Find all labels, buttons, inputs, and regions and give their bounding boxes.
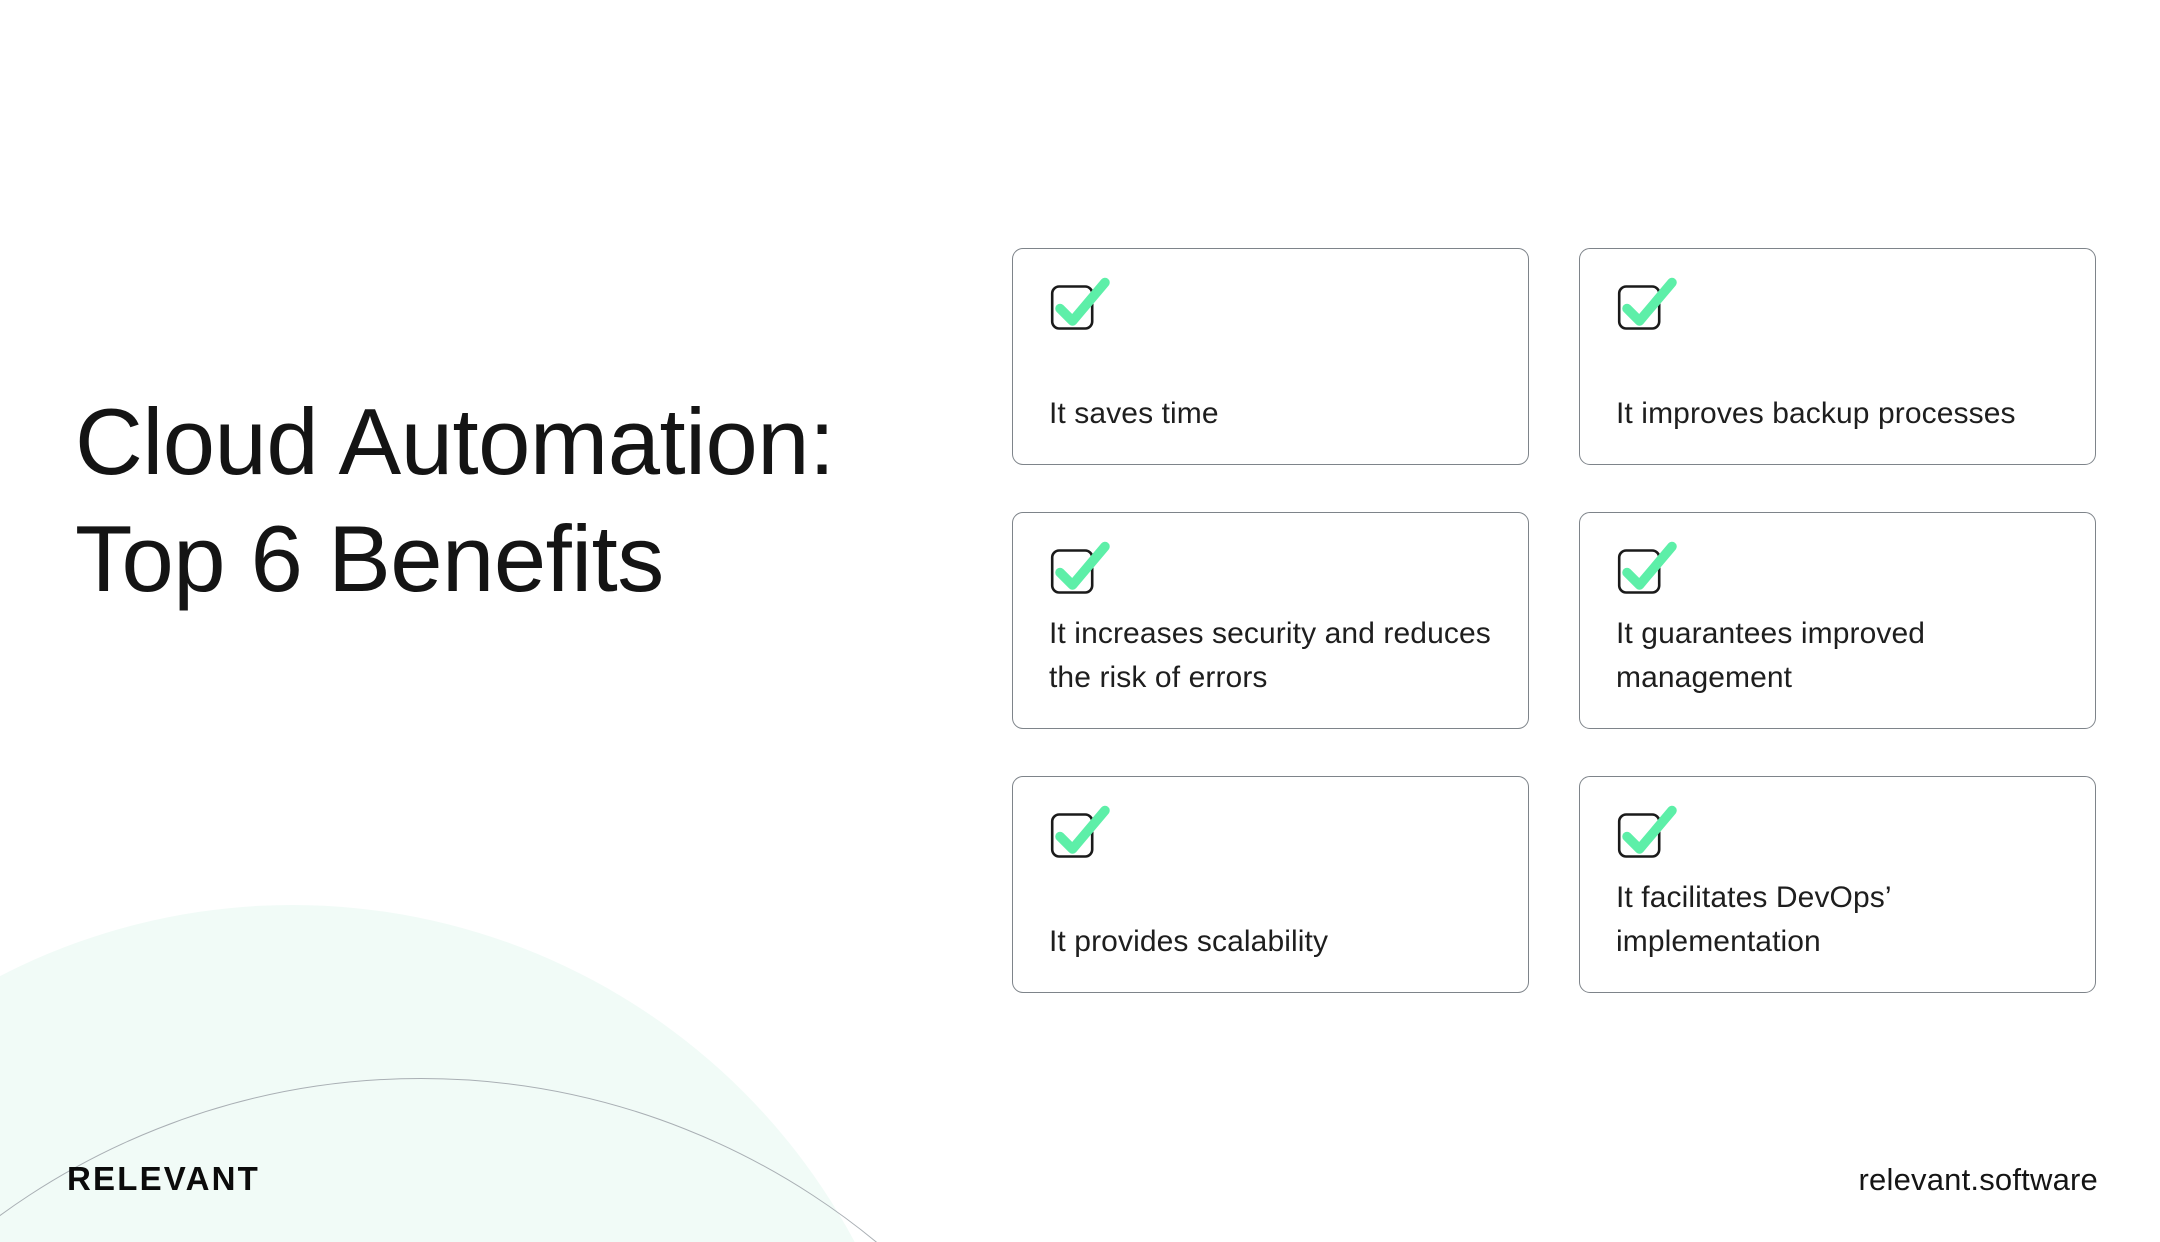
relevant-logo: RELEVANT (67, 1160, 260, 1198)
slide-canvas: Cloud Automation: Top 6 Benefits It save… (0, 0, 2160, 1242)
benefit-card-label: It saves time (1049, 392, 1492, 436)
website-url: relevant.software (1859, 1162, 2098, 1198)
checkbox-checked-icon (1049, 283, 1107, 333)
benefit-card-5[interactable]: It provides scalability (1012, 776, 1529, 993)
benefit-card-label: It provides scalability (1049, 920, 1492, 964)
benefits-card-grid: It saves time It improves backup process… (1012, 248, 2096, 993)
benefit-card-label: It increases security and reduces the ri… (1049, 612, 1492, 700)
checkbox-checked-icon (1616, 283, 1674, 333)
checkbox-checked-icon (1616, 547, 1674, 597)
page-title-line-1: Cloud Automation: (75, 383, 895, 500)
benefit-card-label: It facilitates DevOps’ implementation (1616, 876, 2059, 964)
checkbox-checked-icon (1049, 811, 1107, 861)
benefit-card-2[interactable]: It improves backup processes (1579, 248, 2096, 465)
checkbox-checked-icon (1616, 811, 1674, 861)
benefit-card-1[interactable]: It saves time (1012, 248, 1529, 465)
benefit-card-3[interactable]: It increases security and reduces the ri… (1012, 512, 1529, 729)
benefit-card-label: It guarantees improved management (1616, 612, 2059, 700)
benefit-card-label: It improves backup processes (1616, 392, 2059, 436)
benefit-card-4[interactable]: It guarantees improved management (1579, 512, 2096, 729)
checkbox-checked-icon (1049, 547, 1107, 597)
page-title-line-2: Top 6 Benefits (75, 500, 895, 617)
benefit-card-6[interactable]: It facilitates DevOps’ implementation (1579, 776, 2096, 993)
page-title: Cloud Automation: Top 6 Benefits (75, 383, 895, 617)
